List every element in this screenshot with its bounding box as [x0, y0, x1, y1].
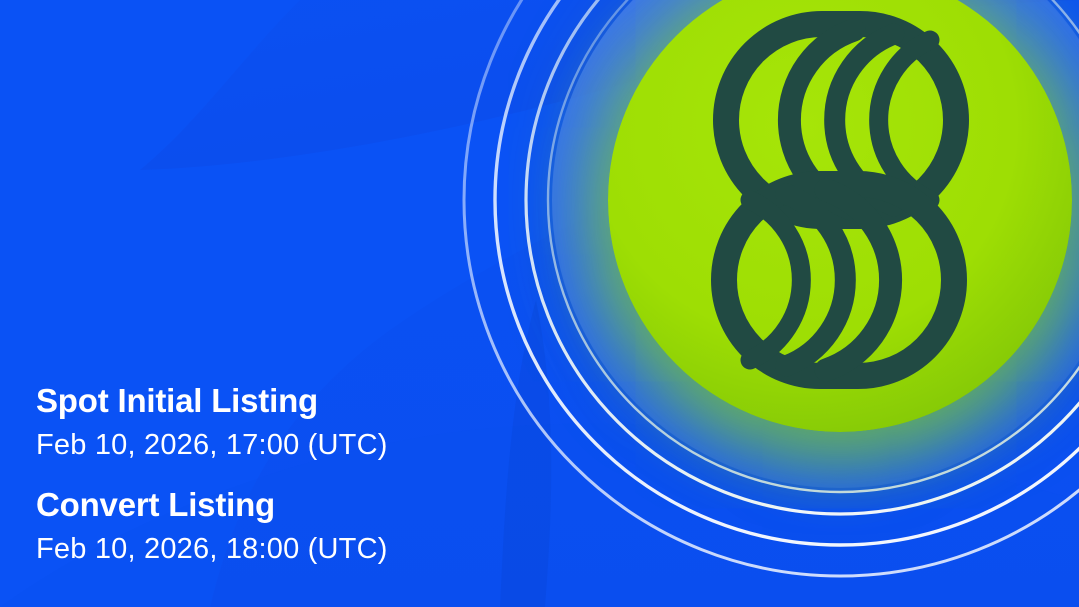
spot-initial-listing-title: Spot Initial Listing [36, 381, 506, 422]
listing-announcement-banner: Spot Initial Listing Feb 10, 2026, 17:00… [0, 0, 1079, 607]
convert-listing-title: Convert Listing [36, 485, 506, 526]
convert-listing-datetime: Feb 10, 2026, 18:00 (UTC) [36, 532, 506, 567]
listing-item: Convert Listing Feb 10, 2026, 18:00 (UTC… [36, 485, 506, 567]
listing-details: Spot Initial Listing Feb 10, 2026, 17:00… [36, 381, 506, 568]
spot-initial-listing-datetime: Feb 10, 2026, 17:00 (UTC) [36, 428, 506, 463]
brand-logo-disc [608, 0, 1072, 432]
figure-eight-layered-rings-logo-icon [608, 0, 1072, 432]
listing-item: Spot Initial Listing Feb 10, 2026, 17:00… [36, 381, 506, 463]
